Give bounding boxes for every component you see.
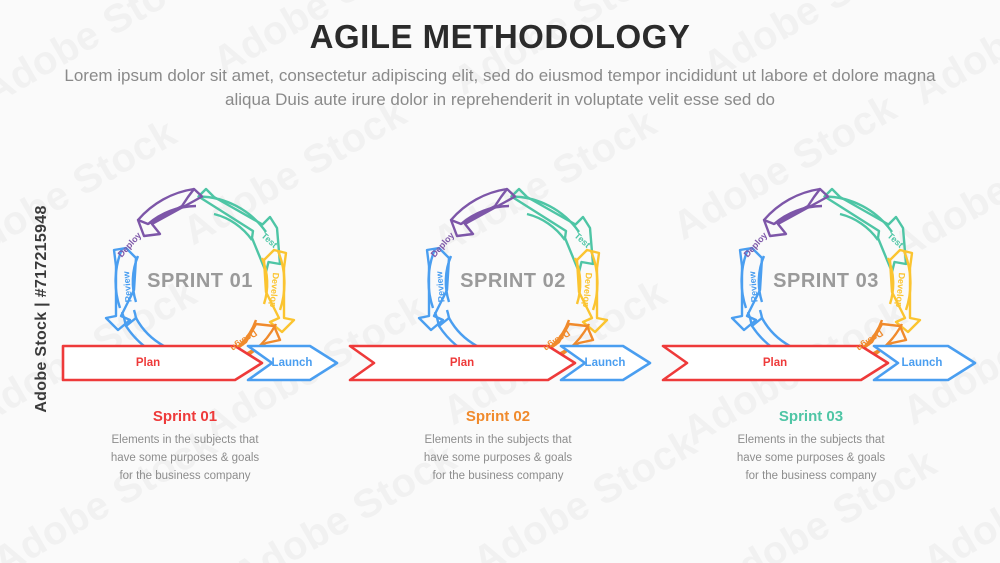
- caption-desc-3: Elements in the subjects that have some …: [666, 432, 956, 485]
- cycle-label-review-3: Review: [747, 270, 760, 303]
- cycle-label-deploy-3: Deploy: [742, 230, 770, 259]
- caption-desc-line: have some purposes & goals: [666, 450, 956, 468]
- caption-block-3: Sprint 03 Elements in the subjects that …: [666, 408, 956, 485]
- bar-plan-label-1: Plan: [136, 357, 160, 369]
- caption-desc-line: for the business company: [40, 468, 330, 486]
- bar-launch-label-1: Launch: [272, 357, 313, 369]
- cycle-label-develop-1: Develop: [268, 272, 281, 308]
- cycle-label-deploy-2: Deploy: [429, 230, 457, 259]
- caption-desc-line: Elements in the subjects that: [666, 432, 956, 450]
- caption-desc-line: Elements in the subjects that: [40, 432, 330, 450]
- caption-block-2: Sprint 02 Elements in the subjects that …: [353, 408, 643, 485]
- infographic-canvas: Adobe Stock Adobe Stock Adobe Stock Adob…: [0, 0, 1000, 563]
- cycle-center-label-1: SPRINT 01: [147, 270, 253, 292]
- caption-desc-line: for the business company: [353, 468, 643, 486]
- caption-desc-1: Elements in the subjects that have some …: [40, 432, 330, 485]
- page-subtitle: Lorem ipsum dolor sit amet, consectetur …: [50, 64, 950, 112]
- sprint-group-1: Plan Launch SPRINT 01 Deploy Test Develo…: [63, 189, 337, 380]
- header: AGILE METHODOLOGY Lorem ipsum dolor sit …: [0, 18, 1000, 112]
- cycle-label-develop-2: Develop: [581, 272, 594, 308]
- bar-plan-label-2: Plan: [450, 357, 474, 369]
- caption-desc-line: Elements in the subjects that: [353, 432, 643, 450]
- caption-desc-line: have some purposes & goals: [40, 450, 330, 468]
- cycle-label-review-2: Review: [434, 270, 447, 303]
- stock-credit-label: Adobe Stock | #717215948: [33, 199, 51, 419]
- caption-block-1: Sprint 01 Elements in the subjects that …: [40, 408, 330, 485]
- cycle-label-review-1: Review: [121, 270, 134, 303]
- bar-plan-label-3: Plan: [763, 357, 787, 369]
- bar-launch-label-3: Launch: [902, 357, 943, 369]
- diagram-stage: Plan Launch SPRINT 01 Deploy Test Develo…: [0, 150, 1000, 400]
- bar-launch-label-2: Launch: [585, 357, 626, 369]
- cycle-center-label-2: SPRINT 02: [460, 270, 566, 292]
- page-title: AGILE METHODOLOGY: [0, 18, 1000, 56]
- bar-plan-1[interactable]: [63, 346, 262, 380]
- sprint-group-3: Plan Launch SPRINT 03 Deploy Test Develo…: [663, 189, 975, 380]
- caption-desc-line: for the business company: [666, 468, 956, 486]
- sprint-group-2: Plan Launch SPRINT 02 Deploy Test Develo…: [350, 189, 650, 380]
- caption-desc-line: have some purposes & goals: [353, 450, 643, 468]
- caption-title-2: Sprint 02: [353, 408, 643, 425]
- caption-title-3: Sprint 03: [666, 408, 956, 425]
- cycle-center-label-3: SPRINT 03: [773, 270, 879, 292]
- cycle-label-deploy-1: Deploy: [116, 230, 144, 259]
- caption-title-1: Sprint 01: [40, 408, 330, 425]
- captions-row: Sprint 01 Elements in the subjects that …: [0, 408, 1000, 518]
- cycle-label-develop-3: Develop: [894, 272, 907, 308]
- caption-desc-2: Elements in the subjects that have some …: [353, 432, 643, 485]
